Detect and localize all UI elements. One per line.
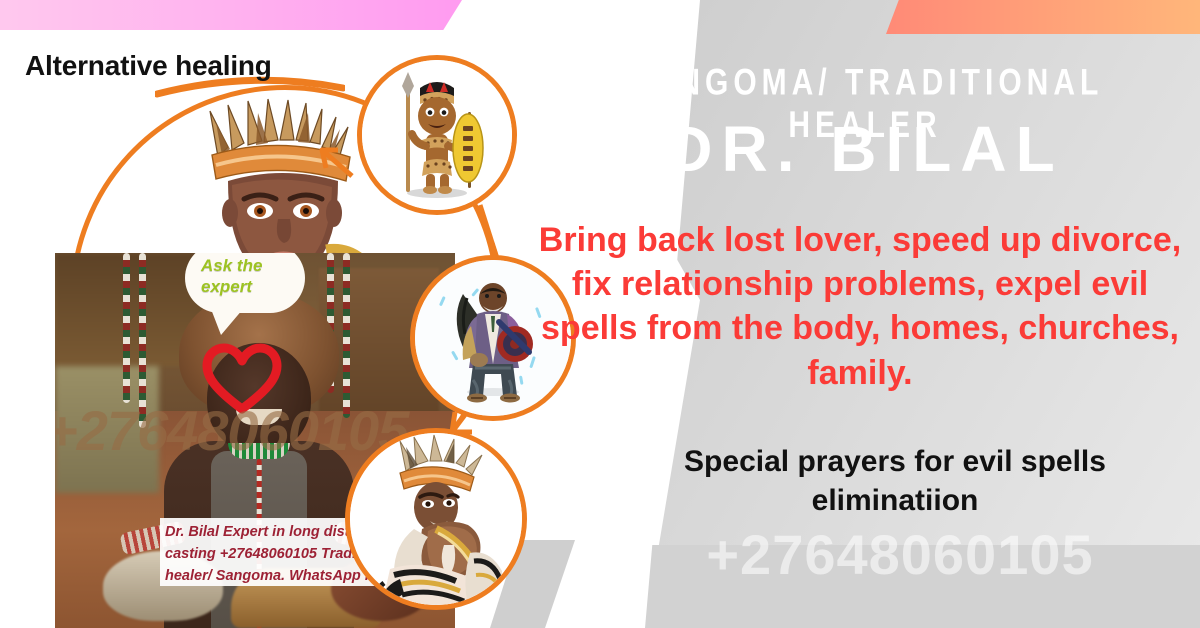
page-title: Alternative healing xyxy=(25,50,272,82)
badge-zulu-warrior xyxy=(357,55,517,215)
phone-watermark: +27648060105 xyxy=(600,522,1200,587)
speech-bubble-label: Ask the expert xyxy=(201,255,305,298)
traditional-dancer-illustration xyxy=(350,433,522,605)
services-text: Bring back lost lover, speed up divorce,… xyxy=(530,218,1190,395)
pink-top-bar xyxy=(0,0,462,30)
zulu-warrior-illustration xyxy=(362,60,512,210)
healer-name: DR. BILAL xyxy=(545,112,1185,186)
badge-traditional-dancer xyxy=(345,428,527,610)
subheading-text: Special prayers for evil spells eliminat… xyxy=(600,442,1190,520)
orange-top-bar xyxy=(886,0,1200,34)
poster-canvas: Alternative healing xyxy=(0,0,1200,628)
photo-bead-strand xyxy=(123,253,130,403)
